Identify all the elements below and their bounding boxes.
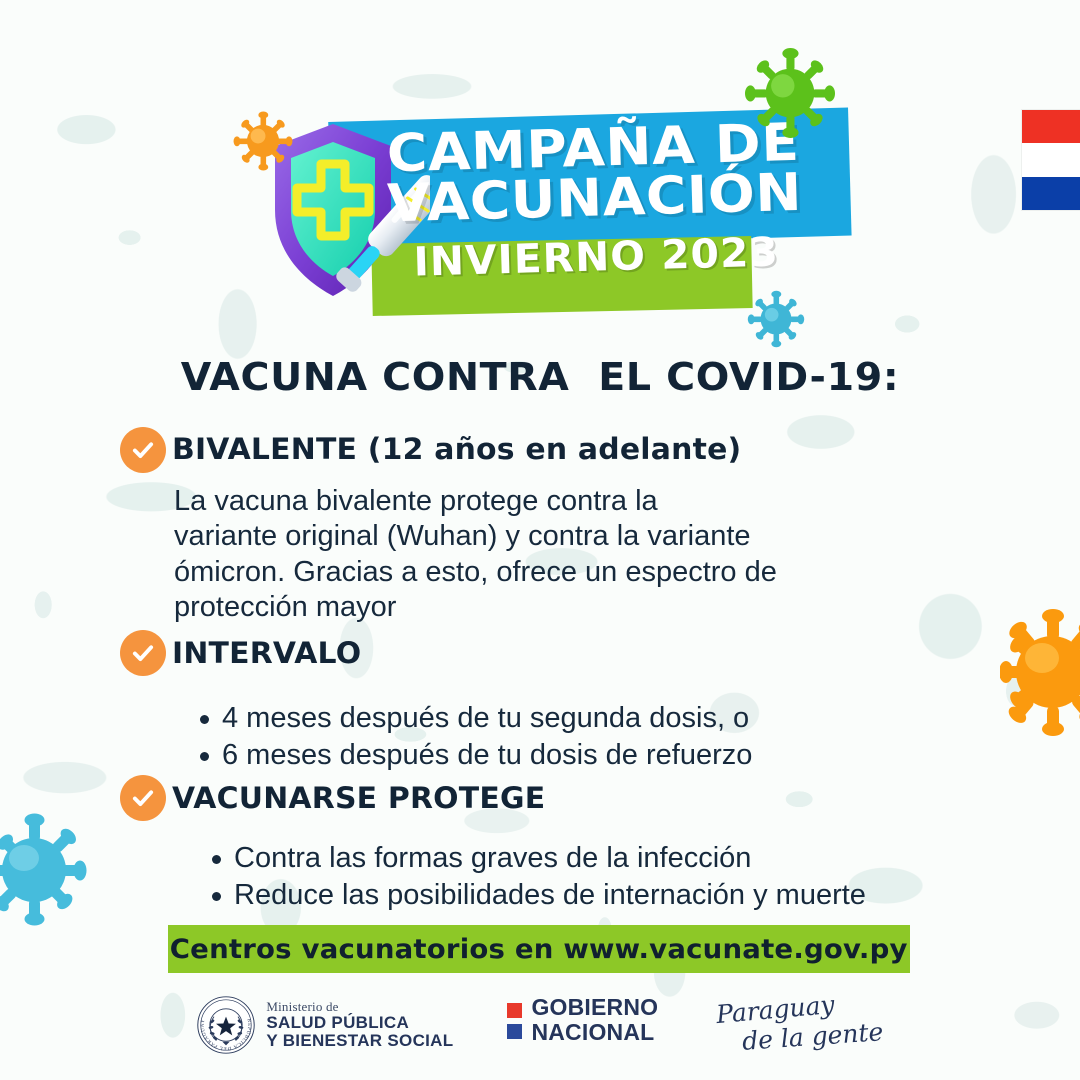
ministry-name-line-2: Y BIENESTAR SOCIAL	[266, 1032, 453, 1050]
government-line-1: GOBIERNO	[531, 995, 658, 1020]
check-icon-intervalo	[120, 630, 166, 676]
section-title-intervalo: INTERVALO	[172, 636, 361, 670]
government-logo-text: GOBIERNO NACIONAL	[531, 995, 658, 1045]
virus-particle-green-icon	[740, 48, 840, 138]
list-item: 4 meses después de tu segunda dosis, o	[196, 700, 752, 737]
government-line-2: NACIONAL	[531, 1020, 658, 1045]
list-item: Contra las formas graves de la infección	[208, 840, 866, 877]
ministry-prefix: Ministerio de	[266, 1000, 453, 1014]
virus-particle-teal-small-icon	[745, 288, 807, 350]
government-squares	[507, 1001, 522, 1039]
ministry-of-health-logo: REPÚBLICA DEL PARAGUAY Ministerio de SAL…	[196, 995, 453, 1055]
poster-canvas: CAMPAÑA DE VACUNACIÓN INVIERNO 2023	[0, 0, 1080, 1080]
title-season-line: INVIERNO 2023	[325, 231, 866, 284]
paraguay-de-la-gente-logo: Paraguay de la gente	[716, 995, 883, 1049]
title-line-2: VACUNACIÓN	[313, 167, 876, 233]
list-item: Reduce las posibilidades de internación …	[208, 877, 866, 914]
national-government-logo: GOBIERNO NACIONAL	[507, 995, 658, 1045]
check-icon-bivalente	[120, 427, 166, 473]
page-title: VACUNA CONTRA EL COVID-19:	[0, 355, 1080, 399]
vaccination-centers-banner[interactable]: Centros vacunatorios en www.vacunate.gov…	[168, 925, 910, 973]
bullet-list-vacunarse-protege: Contra las formas graves de la infección…	[208, 840, 866, 914]
check-mark-icon	[130, 640, 156, 666]
virus-particle-orange-small-icon	[232, 110, 294, 172]
virus-particle-orange-large-icon	[1000, 596, 1080, 742]
vaccination-centers-text: Centros vacunatorios en www.vacunate.gov…	[170, 934, 908, 965]
bullet-list-intervalo: 4 meses después de tu segunda dosis, o 6…	[196, 700, 752, 774]
check-icon-vacunarse-protege	[120, 775, 166, 821]
section-title-bivalente: BIVALENTE (12 años en adelante)	[172, 432, 741, 466]
virus-particle-teal-large-icon	[0, 808, 88, 932]
header: CAMPAÑA DE VACUNACIÓN INVIERNO 2023	[0, 0, 1080, 330]
footer-logos: REPÚBLICA DEL PARAGUAY Ministerio de SAL…	[0, 995, 1080, 1080]
section-paragraph-bivalente: La vacuna bivalente protege contra la va…	[174, 484, 914, 626]
check-mark-icon	[130, 785, 156, 811]
paraguay-national-seal-icon: REPÚBLICA DEL PARAGUAY	[196, 995, 256, 1055]
section-title-vacunarse-protege: VACUNARSE PROTEGE	[172, 781, 545, 815]
square-blue-icon	[507, 1024, 522, 1039]
check-mark-icon	[130, 437, 156, 463]
ministry-logo-text: Ministerio de SALUD PÚBLICA Y BIENESTAR …	[266, 1000, 453, 1051]
square-red-icon	[507, 1003, 522, 1018]
ministry-name-line-1: SALUD PÚBLICA	[266, 1014, 453, 1032]
list-item: 6 meses después de tu dosis de refuerzo	[196, 737, 752, 774]
